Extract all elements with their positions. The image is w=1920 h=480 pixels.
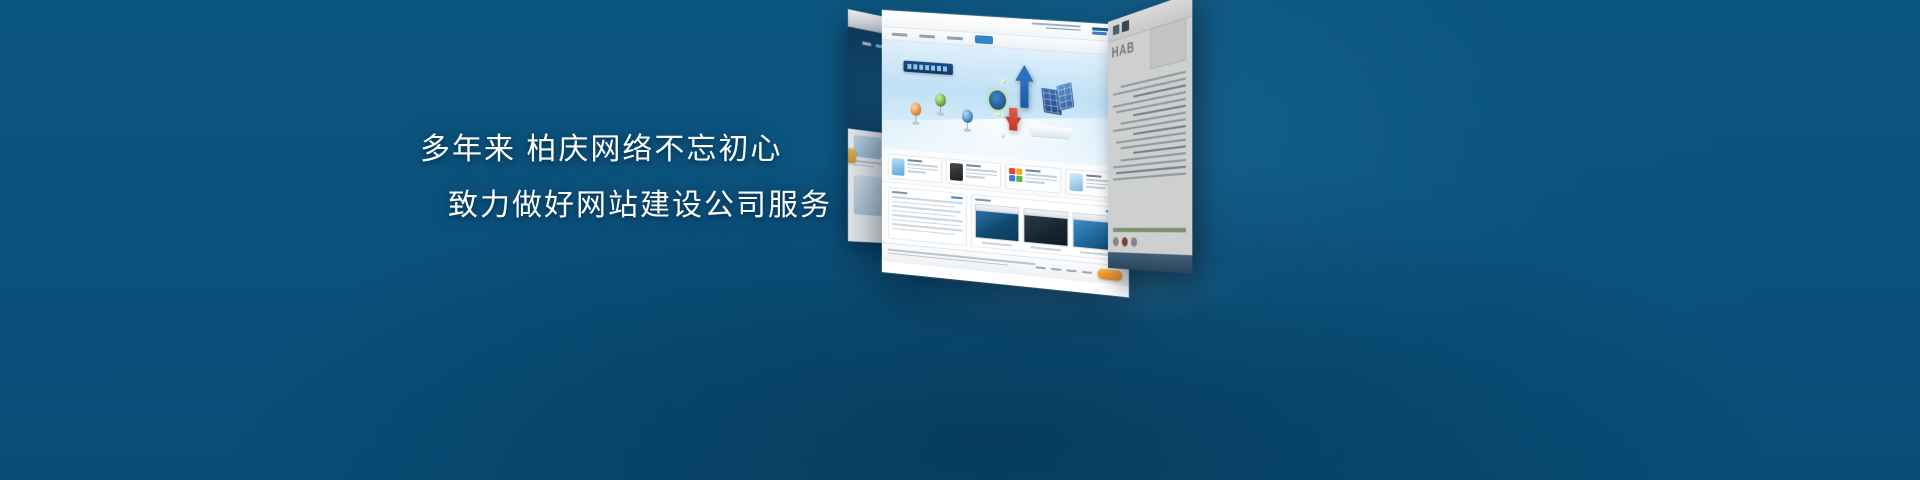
social-icons[interactable] xyxy=(1113,237,1186,248)
cube-icon xyxy=(1041,84,1076,118)
right-footer xyxy=(1113,228,1186,248)
cases-panel[interactable] xyxy=(971,194,1123,261)
toolbar-icons xyxy=(1113,20,1129,36)
nav-item[interactable] xyxy=(919,34,935,38)
hero-banner: 多年来 柏庆网络不忘初心 致力做好网站建设公司服务 xyxy=(0,0,1920,480)
case-thumbnail[interactable] xyxy=(975,203,1019,246)
node-icon xyxy=(1001,79,1006,84)
header-tagline xyxy=(1032,22,1081,32)
right-text-lines xyxy=(1113,71,1186,181)
headline-line-1: 多年来 柏庆网络不忘初心 xyxy=(420,128,980,172)
node-icon xyxy=(996,111,1001,116)
tablet-icon xyxy=(1069,173,1082,192)
green-bar xyxy=(1113,228,1186,233)
hero-banner-text xyxy=(903,61,952,76)
headline-block: 多年来 柏庆网络不忘初心 致力做好网站建设公司服务 xyxy=(420,128,980,228)
balloon-icon xyxy=(911,103,922,126)
arrow-up-icon xyxy=(1015,64,1033,82)
case-thumbnail[interactable] xyxy=(1023,208,1068,252)
grid-apps-icon xyxy=(1009,168,1022,182)
feature-card[interactable] xyxy=(1005,163,1061,193)
arrow-down-icon xyxy=(1006,117,1022,132)
nav-item-active[interactable] xyxy=(975,35,993,44)
nav-item[interactable] xyxy=(947,36,963,40)
footer-links[interactable] xyxy=(1036,266,1093,274)
balloon-icon xyxy=(935,93,946,116)
footer-cta-button[interactable] xyxy=(1097,268,1122,281)
screenshot-stack: HAB xyxy=(820,0,1280,480)
node-icon xyxy=(1001,134,1005,138)
nav-item[interactable] xyxy=(892,32,908,36)
globe-ring-icon xyxy=(988,89,1007,112)
website-preview-right[interactable]: HAB xyxy=(1108,0,1192,273)
headline-line-2: 致力做好网站建设公司服务 xyxy=(448,184,980,228)
